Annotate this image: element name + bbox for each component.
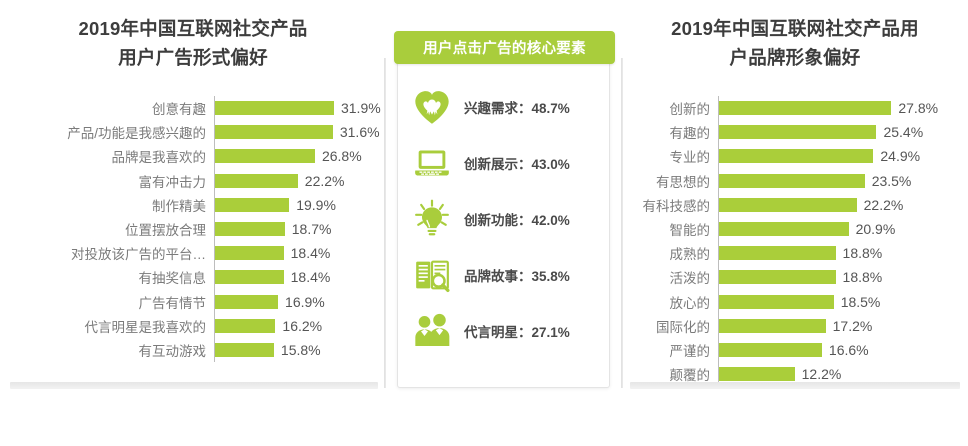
bar-value-label: 22.2% — [864, 197, 904, 213]
bar-row: 有互动游戏15.8% — [0, 338, 385, 362]
bar-track: 18.8% — [718, 241, 968, 265]
bar-row: 位置摆放合理18.7% — [0, 217, 385, 241]
bar-row: 制作精美19.9% — [0, 193, 385, 217]
bar-row: 专业的24.9% — [622, 144, 968, 168]
bar-category-label: 国际化的 — [622, 316, 718, 336]
bar-row: 创新的27.8% — [622, 96, 968, 120]
bar-fill — [719, 198, 857, 212]
core-factor-row: 兴趣需求：48.7% — [398, 79, 609, 135]
core-factor-text: 创新功能：42.0% — [464, 209, 570, 229]
heart-icon — [410, 85, 454, 129]
bar-category-label: 有互动游戏 — [0, 340, 214, 360]
bar-fill — [719, 319, 826, 333]
bar-category-label: 位置摆放合理 — [0, 219, 214, 239]
core-factor-text: 创新展示：43.0% — [464, 153, 570, 173]
bar-value-label: 18.4% — [291, 245, 331, 261]
left-panel-base-band — [10, 382, 378, 389]
bar-category-label: 创新的 — [622, 98, 718, 118]
bar-track: 18.7% — [214, 217, 385, 241]
two-people-icon — [410, 309, 454, 353]
bar-category-label: 严谨的 — [622, 340, 718, 360]
bar-category-label: 有思想的 — [622, 171, 718, 191]
bar-track: 15.8% — [214, 338, 385, 362]
bar-fill — [215, 270, 284, 284]
bar-category-label: 产品/功能是我感兴趣的 — [0, 122, 214, 142]
right-chart-panel: 2019年中国互联网社交产品用 户品牌形象偏好 创新的27.8%有趣的25.4%… — [622, 0, 968, 392]
center-factors-panel: 用户点击广告的核心要素 兴趣需求：48.7%创新展示：43.0%创新功能：42.… — [385, 0, 622, 396]
bar-track: 18.4% — [214, 265, 385, 289]
bar-row: 有思想的23.5% — [622, 169, 968, 193]
bar-fill — [215, 198, 289, 212]
bar-fill — [719, 367, 795, 381]
bar-value-label: 12.2% — [802, 366, 842, 382]
bar-category-label: 品牌是我喜欢的 — [0, 146, 214, 166]
bar-row: 国际化的17.2% — [622, 314, 968, 338]
bar-fill — [215, 246, 284, 260]
bar-value-label: 19.9% — [296, 197, 336, 213]
bar-track: 20.9% — [718, 217, 968, 241]
left-chart-title: 2019年中国互联网社交产品 用户广告形式偏好 — [18, 14, 368, 72]
bar-track: 16.2% — [214, 314, 385, 338]
bar-value-label: 22.2% — [305, 173, 345, 189]
left-bar-chart: 创意有趣31.9%产品/功能是我感兴趣的31.6%品牌是我喜欢的26.8%富有冲… — [0, 96, 385, 362]
bar-value-label: 16.2% — [282, 318, 322, 334]
right-panel-base-band — [630, 382, 960, 389]
bar-row: 放心的18.5% — [622, 290, 968, 314]
bar-value-label: 17.2% — [833, 318, 873, 334]
bar-row: 产品/功能是我感兴趣的31.6% — [0, 120, 385, 144]
bar-value-label: 24.9% — [880, 148, 920, 164]
bar-value-label: 18.5% — [841, 294, 881, 310]
bar-row: 代言明星是我喜欢的16.2% — [0, 314, 385, 338]
right-bar-chart: 创新的27.8%有趣的25.4%专业的24.9%有思想的23.5%有科技感的22… — [622, 96, 968, 386]
bar-row: 广告有情节16.9% — [0, 290, 385, 314]
bar-fill — [215, 125, 333, 139]
bar-track: 24.9% — [718, 144, 968, 168]
left-chart-panel: 2019年中国互联网社交产品 用户广告形式偏好 创意有趣31.9%产品/功能是我… — [0, 0, 385, 392]
bar-fill — [719, 101, 891, 115]
right-chart-title: 2019年中国互联网社交产品用 户品牌形象偏好 — [630, 14, 960, 72]
core-factor-text: 品牌故事：35.8% — [464, 265, 570, 285]
core-factor-list: 兴趣需求：48.7%创新展示：43.0%创新功能：42.0%品牌故事：35.8%… — [398, 79, 609, 359]
bar-value-label: 31.9% — [341, 100, 381, 116]
bar-value-label: 16.6% — [829, 342, 869, 358]
core-factor-text: 兴趣需求：48.7% — [464, 97, 570, 117]
book-search-icon — [410, 253, 454, 297]
infographic-root: 2019年中国互联网社交产品 用户广告形式偏好 创意有趣31.9%产品/功能是我… — [0, 0, 968, 446]
center-header-label: 用户点击广告的核心要素 — [423, 37, 586, 58]
bar-fill — [215, 149, 315, 163]
lightbulb-icon — [410, 197, 454, 241]
bar-value-label: 31.6% — [340, 124, 380, 140]
laptop-icon — [410, 141, 454, 185]
bar-fill — [719, 149, 873, 163]
bar-fill — [719, 246, 836, 260]
center-card: 用户点击广告的核心要素 兴趣需求：48.7%创新展示：43.0%创新功能：42.… — [397, 40, 610, 388]
bar-fill — [215, 101, 334, 115]
bar-row: 有科技感的22.2% — [622, 193, 968, 217]
core-factor-row: 创新功能：42.0% — [398, 191, 609, 247]
bar-category-label: 放心的 — [622, 292, 718, 312]
bar-fill — [719, 295, 834, 309]
bar-row: 成熟的18.8% — [622, 241, 968, 265]
bar-row: 活泼的18.8% — [622, 265, 968, 289]
bar-fill — [719, 343, 822, 357]
bar-category-label: 广告有情节 — [0, 292, 214, 312]
bar-category-label: 活泼的 — [622, 267, 718, 287]
bar-row: 创意有趣31.9% — [0, 96, 385, 120]
bar-category-label: 代言明星是我喜欢的 — [0, 316, 214, 336]
bar-track: 18.4% — [214, 241, 385, 265]
bar-track: 19.9% — [214, 193, 385, 217]
bar-value-label: 18.8% — [843, 245, 883, 261]
bar-track: 17.2% — [718, 314, 968, 338]
bar-track: 26.8% — [214, 144, 385, 168]
bar-track: 25.4% — [718, 120, 968, 144]
bar-value-label: 26.8% — [322, 148, 362, 164]
bar-row: 富有冲击力22.2% — [0, 169, 385, 193]
bar-category-label: 对投放该广告的平台… — [0, 243, 214, 263]
core-factor-row: 品牌故事：35.8% — [398, 247, 609, 303]
left-title-line-2: 用户广告形式偏好 — [18, 43, 368, 72]
bar-category-label: 富有冲击力 — [0, 171, 214, 191]
bar-fill — [719, 270, 836, 284]
bar-row: 对投放该广告的平台…18.4% — [0, 241, 385, 265]
bar-fill — [215, 343, 274, 357]
bar-track: 31.9% — [214, 96, 385, 120]
bar-category-label: 制作精美 — [0, 195, 214, 215]
bar-fill — [215, 295, 278, 309]
bar-value-label: 25.4% — [883, 124, 923, 140]
bar-track: 18.8% — [718, 265, 968, 289]
bar-category-label: 专业的 — [622, 146, 718, 166]
bar-track: 31.6% — [214, 120, 385, 144]
bar-value-label: 15.8% — [281, 342, 321, 358]
bar-value-label: 18.4% — [291, 269, 331, 285]
core-factor-text: 代言明星：27.1% — [464, 321, 570, 341]
right-title-line-1: 2019年中国互联网社交产品用 — [630, 14, 960, 43]
bar-fill — [719, 222, 849, 236]
bar-fill — [215, 174, 298, 188]
bar-track: 16.9% — [214, 290, 385, 314]
bar-value-label: 27.8% — [898, 100, 938, 116]
bar-track: 22.2% — [214, 169, 385, 193]
core-factor-row: 代言明星：27.1% — [398, 303, 609, 359]
bar-category-label: 创意有趣 — [0, 98, 214, 118]
core-factor-row: 创新展示：43.0% — [398, 135, 609, 191]
bar-fill — [719, 174, 865, 188]
bar-value-label: 18.8% — [843, 269, 883, 285]
bar-fill — [215, 222, 285, 236]
bar-value-label: 18.7% — [292, 221, 332, 237]
right-title-line-2: 户品牌形象偏好 — [630, 43, 960, 72]
bar-row: 有抽奖信息18.4% — [0, 265, 385, 289]
center-card-header: 用户点击广告的核心要素 — [394, 31, 615, 64]
bar-category-label: 有抽奖信息 — [0, 267, 214, 287]
bar-category-label: 智能的 — [622, 219, 718, 239]
bar-fill — [215, 319, 275, 333]
bar-row: 品牌是我喜欢的26.8% — [0, 144, 385, 168]
bar-category-label: 有趣的 — [622, 122, 718, 142]
bar-row: 有趣的25.4% — [622, 120, 968, 144]
bar-track: 23.5% — [718, 169, 968, 193]
bar-category-label: 成熟的 — [622, 243, 718, 263]
bar-track: 18.5% — [718, 290, 968, 314]
bar-track: 27.8% — [718, 96, 968, 120]
bar-track: 22.2% — [718, 193, 968, 217]
bar-value-label: 23.5% — [872, 173, 912, 189]
bar-row: 智能的20.9% — [622, 217, 968, 241]
bar-category-label: 有科技感的 — [622, 195, 718, 215]
bar-value-label: 20.9% — [856, 221, 896, 237]
left-title-line-1: 2019年中国互联网社交产品 — [18, 14, 368, 43]
bar-track: 16.6% — [718, 338, 968, 362]
bar-row: 严谨的16.6% — [622, 338, 968, 362]
bar-value-label: 16.9% — [285, 294, 325, 310]
bar-fill — [719, 125, 876, 139]
